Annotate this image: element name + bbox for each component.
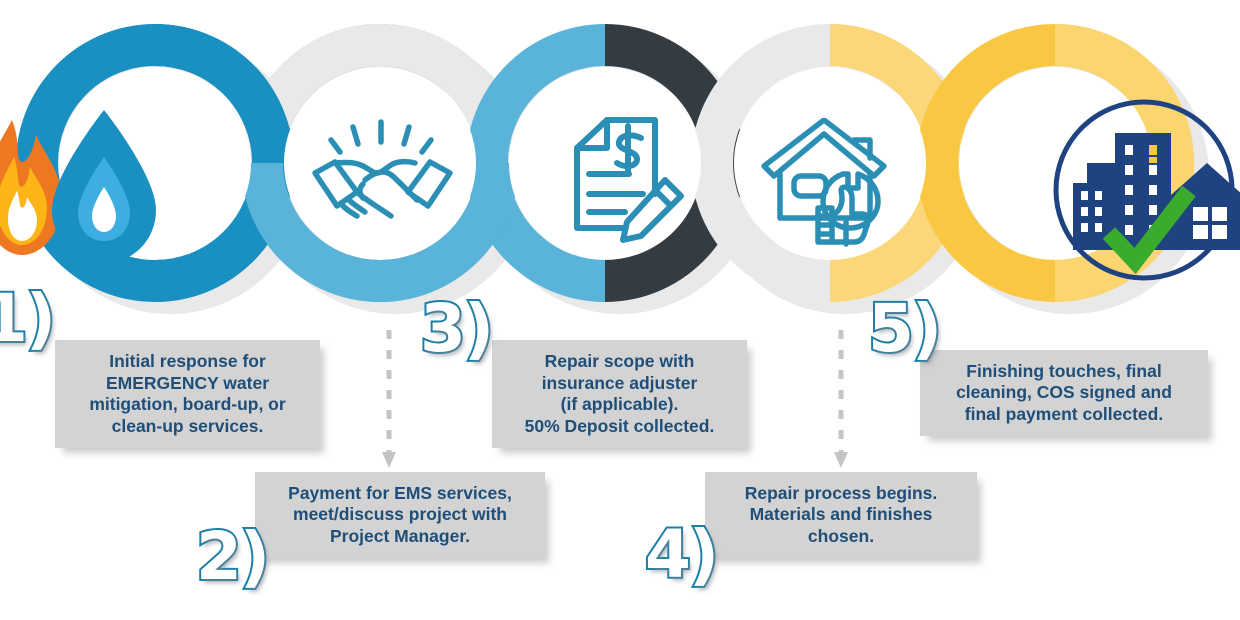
step-3-line-4: 50% Deposit collected. [492,416,747,438]
step-4-line-2: Materials and finishes [705,504,977,526]
step-2-line-3: Project Manager. [255,526,545,548]
handshake-sparkle-lines [331,122,431,152]
document-dollar-pencil-icon [545,112,690,252]
step-5-line-1: Finishing touches, final [920,361,1208,383]
step-4-number: 4) [645,522,717,588]
flame-icon [0,120,62,255]
ring-chain [0,0,1240,620]
step-2-text-box: Payment for EMS services, meet/discuss p… [255,472,545,558]
step-2-line-2: meet/discuss project with [255,504,545,526]
step-1-line-3: mitigation, board-up, or [55,394,320,416]
handshake-hands [315,162,450,216]
logo-gold-window [1149,145,1157,163]
buildings-house-check-logo [1053,95,1240,285]
step-3-number: 3) [420,296,492,362]
logo-house-window [1193,207,1227,239]
fire-and-water-icon [0,105,177,270]
step-4-line-3: chosen. [705,526,977,548]
step-2-line-1: Payment for EMS services, [255,483,545,505]
step-4-text-box: Repair process begins. Materials and fin… [705,472,977,558]
step-3-line-2: insurance adjuster [492,373,747,395]
step-5-text-box: Finishing touches, final cleaning, COS s… [920,350,1208,436]
step-3-line-3: (if applicable). [492,394,747,416]
house-wrench-thumbsup-icon [758,118,913,250]
step-1-line-4: clean-up services. [55,416,320,438]
dollar-sign-icon [617,126,641,174]
step-1-line-2: EMERGENCY water [55,373,320,395]
step-5-line-2: cleaning, COS signed and [920,382,1208,404]
water-drop-icon [52,110,156,263]
document-lines [589,174,643,212]
step-2-number: 2) [196,524,268,590]
step-1-text-box: Initial response for EMERGENCY water mit… [55,340,320,448]
infographic-canvas: Initial response for EMERGENCY water mit… [0,0,1240,620]
step-5-number: 5) [868,296,940,362]
step-4-line-1: Repair process begins. [705,483,977,505]
step-1-line-1: Initial response for [55,351,320,373]
handshake-icon [305,118,460,233]
step-3-line-1: Repair scope with [492,351,747,373]
step-5-line-3: final payment collected. [920,404,1208,426]
step-1-number: 1) [0,286,54,352]
step-3-text-box: Repair scope with insurance adjuster (if… [492,340,747,448]
